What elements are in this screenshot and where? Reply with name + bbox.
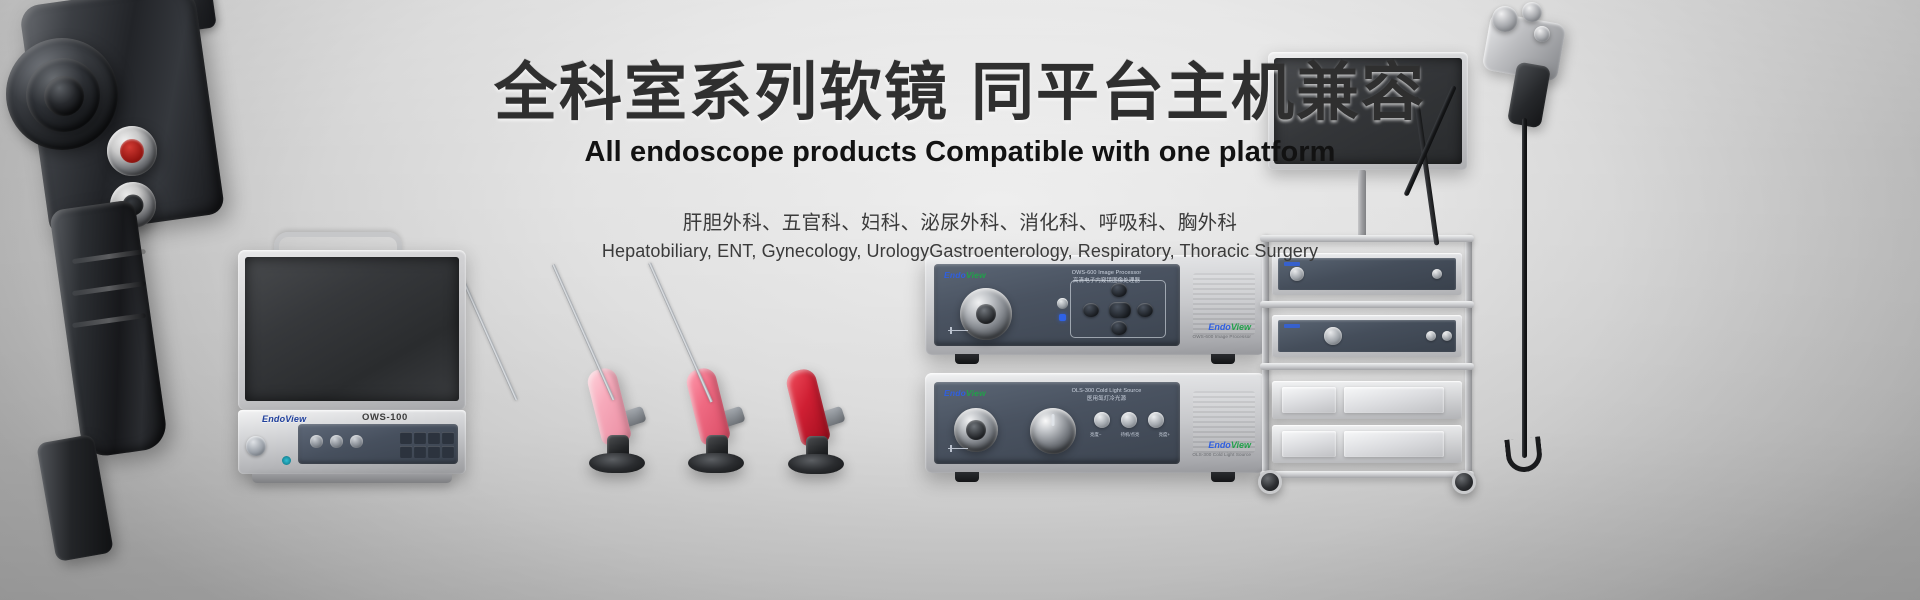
trolley-device-knob-3[interactable] — [1324, 327, 1342, 345]
product-banner: 全科室系列软镜同平台主机兼容 All endoscope products Co… — [0, 0, 1920, 600]
instrument-stand — [788, 454, 844, 474]
image-processor-unit: EndoView OWS-600 Image Processor 高清电子内窥镜… — [925, 255, 1265, 355]
hanging-scope-knob-small — [1522, 2, 1542, 22]
processor-navigation-pad[interactable] — [1070, 280, 1166, 338]
menu-button[interactable] — [1109, 302, 1131, 318]
light-source-side-brand: EndoView — [1192, 439, 1251, 453]
trolley-drawer-left[interactable] — [1282, 387, 1336, 413]
monitor-key[interactable] — [428, 432, 440, 444]
page-title-part-1: 全科室系列软镜 — [494, 58, 949, 128]
monitor-key[interactable] — [414, 432, 426, 444]
processor-side-brand: EndoView — [1193, 321, 1251, 335]
light-source-brand-part2: View — [966, 388, 986, 398]
rigid-instrument-red — [710, 250, 860, 485]
processor-indicator-1 — [1057, 298, 1068, 309]
monitor-keypad[interactable] — [400, 432, 454, 458]
processor-led-blue — [1059, 314, 1066, 321]
monitor-key[interactable] — [400, 446, 412, 458]
processor-brand-part2: View — [966, 270, 986, 280]
brightness-down-button[interactable] — [1094, 412, 1110, 428]
hanging-scope-knob-large — [1492, 6, 1518, 32]
button-label-2: 亮度+ — [1159, 432, 1170, 438]
chevron-down-icon[interactable] — [1111, 321, 1127, 335]
button-label-0: 亮度− — [1090, 432, 1101, 438]
standby-button[interactable] — [1121, 412, 1137, 428]
light-source-foot-left — [955, 472, 979, 482]
light-source-unit: EndoView OLS-300 Cold Light Source 医用氙灯冷… — [925, 373, 1265, 473]
processor-front-panel: EndoView OWS-600 Image Processor 高清电子内窥镜… — [934, 264, 1180, 346]
monitor-model-label: OWS-100 — [362, 412, 408, 423]
monitor-port-3 — [350, 435, 363, 448]
light-source-front-panel: EndoView OLS-300 Cold Light Source 医用氙灯冷… — [934, 382, 1180, 464]
banner-text-block: 全科室系列软镜同平台主机兼容 All endoscope products Co… — [0, 58, 1920, 262]
light-source-brightness-knob[interactable] — [1030, 408, 1076, 454]
specialties-en: Hepatobiliary, ENT, Gynecology, UrologyG… — [0, 241, 1920, 262]
waveform-icon — [948, 445, 968, 452]
monitor-key[interactable] — [400, 432, 412, 444]
button-label-1: 待机/点亮 — [1121, 432, 1140, 438]
page-subtitle: All endoscope products Compatible with o… — [0, 136, 1920, 169]
monitor-port-1 — [310, 435, 323, 448]
monitor-key[interactable] — [414, 446, 426, 458]
chevron-up-icon[interactable] — [1111, 283, 1127, 297]
light-source-caption-line-1: OLS-300 Cold Light Source — [1049, 387, 1164, 395]
light-source-brand-label: EndoView — [944, 388, 986, 398]
monitor-key[interactable] — [428, 446, 440, 458]
processor-stack: EndoView OWS-600 Image Processor 高清电子内窥镜… — [925, 255, 1270, 485]
light-source-side-model: OLS-300 Cold Light Source — [1192, 452, 1251, 459]
light-source-side-brand-part1: Endo — [1208, 440, 1231, 450]
monitor-port-2 — [330, 435, 343, 448]
light-source-side-brand-part2: View — [1231, 440, 1251, 450]
specialties-cn: 肝胆外科、五官科、妇科、泌尿外科、消化科、呼吸科、胸外科 — [0, 206, 1920, 235]
light-source-foot-right — [1211, 472, 1235, 482]
waveform-icon — [948, 327, 968, 334]
brightness-up-button[interactable] — [1148, 412, 1164, 428]
trolley-drawer-left-2[interactable] — [1282, 431, 1336, 457]
monitor-key[interactable] — [442, 446, 454, 458]
light-source-brand-part1: Endo — [944, 388, 966, 398]
light-source-button-row[interactable] — [1094, 412, 1164, 428]
processor-side-label: EndoView OWS-600 Image Processor — [1193, 321, 1251, 341]
trolley-caster-left — [1258, 470, 1282, 494]
trolley-device-knob-1[interactable] — [1290, 267, 1304, 281]
trolley-drawer-right[interactable] — [1344, 387, 1444, 413]
processor-side-brand-part2: View — [1231, 322, 1251, 332]
processor-brand-part1: Endo — [944, 270, 966, 280]
light-source-side-label: EndoView OLS-300 Cold Light Source — [1192, 439, 1251, 459]
light-source-caption-line-2: 医用氙灯冷光源 — [1049, 395, 1164, 403]
page-title-part-2: 同平台主机兼容 — [971, 58, 1426, 128]
monitor-key[interactable] — [442, 432, 454, 444]
processor-caption-line-1: OWS-600 Image Processor — [1049, 269, 1164, 277]
processor-brand-label: EndoView — [944, 270, 986, 280]
hanging-scope-valve — [1534, 26, 1550, 42]
processor-side-brand-part1: Endo — [1208, 322, 1231, 332]
trolley-rail-left — [1262, 235, 1269, 480]
chevron-left-icon[interactable] — [1083, 303, 1099, 317]
processor-foot-left — [955, 354, 979, 364]
chevron-right-icon[interactable] — [1137, 303, 1153, 317]
processor-foot-right — [1211, 354, 1235, 364]
processor-side-model: OWS-600 Image Processor — [1193, 334, 1251, 341]
page-title: 全科室系列软镜同平台主机兼容 — [0, 58, 1920, 129]
trolley-drawer-right-2[interactable] — [1344, 431, 1444, 457]
light-source-panel-caption: OLS-300 Cold Light Source 医用氙灯冷光源 — [1049, 387, 1164, 404]
hanging-scope-distal-tip — [1504, 436, 1543, 474]
light-source-button-labels: 亮度− 待机/点亮 亮度+ — [1090, 432, 1170, 438]
